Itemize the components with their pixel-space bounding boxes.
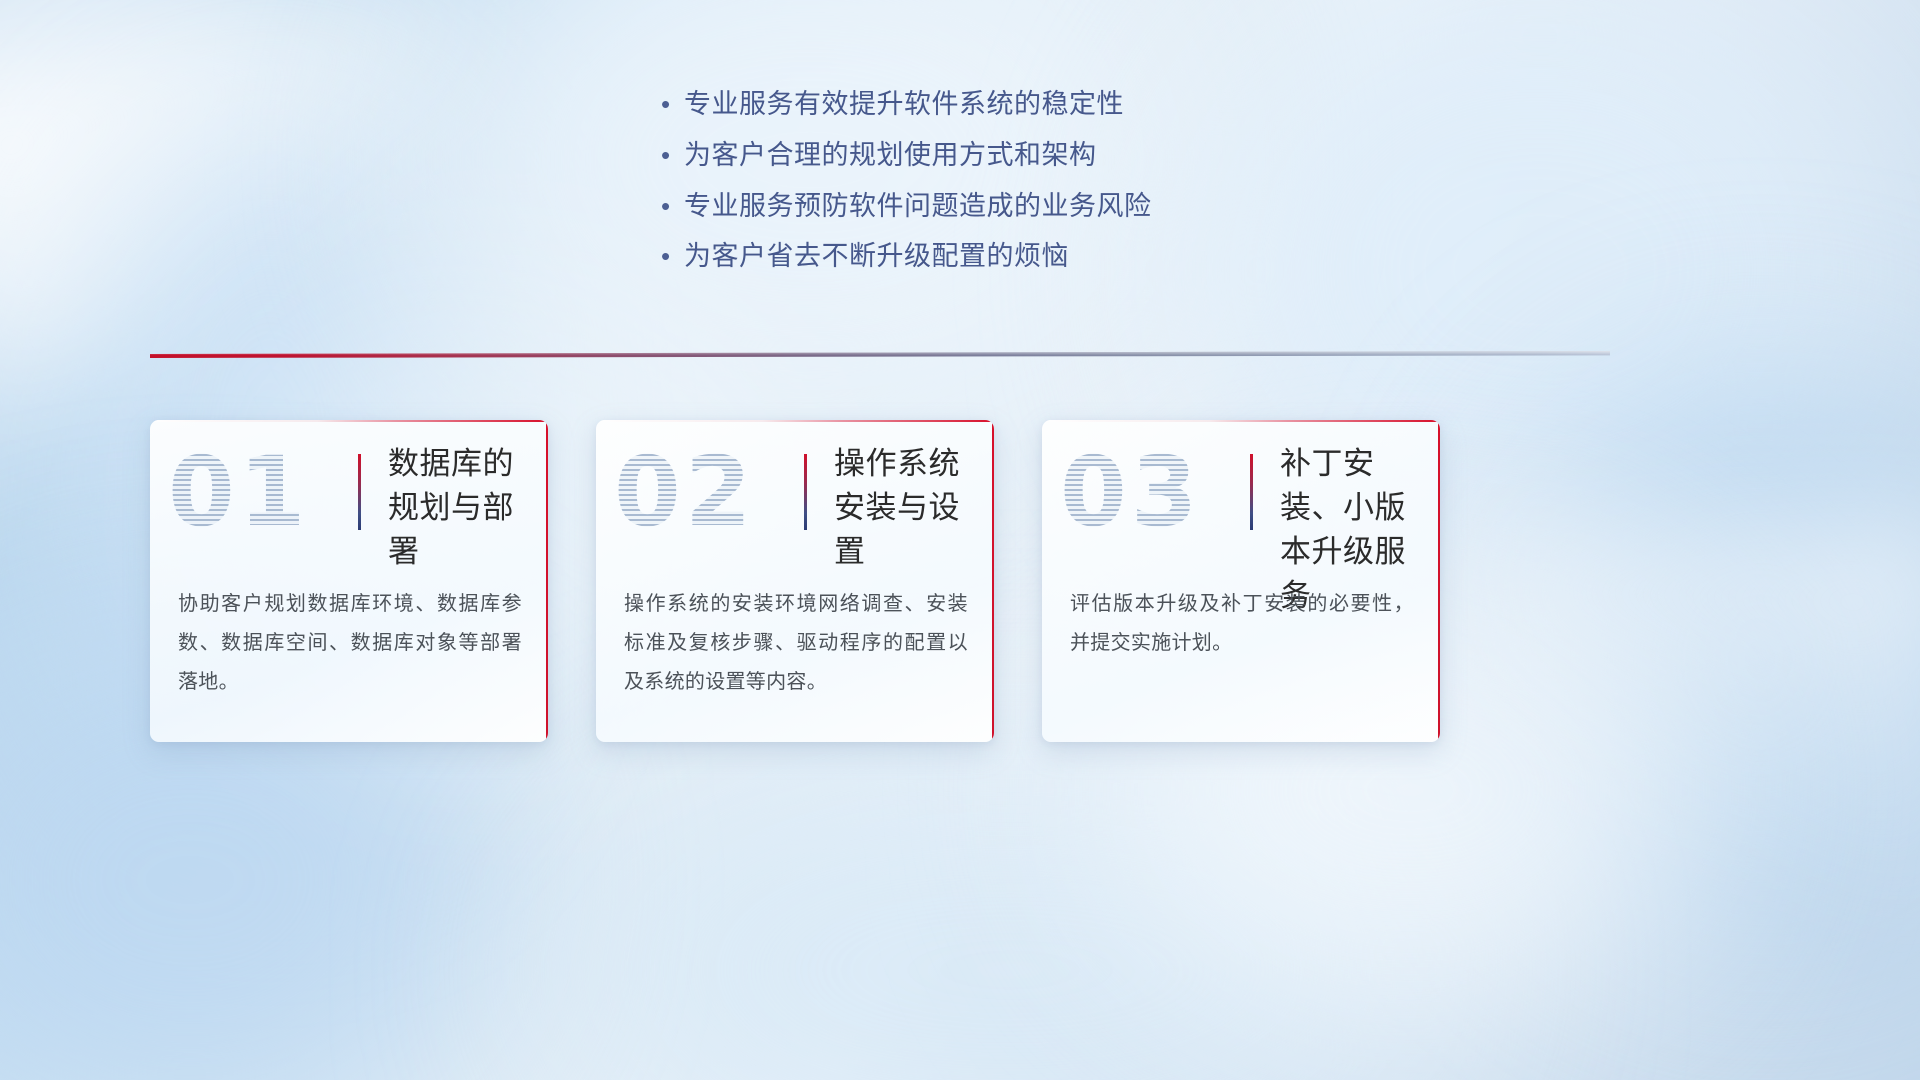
light-streak <box>1480 520 1920 940</box>
list-item: • 为客户省去不断升级配置的烦恼 <box>650 240 1270 274</box>
card-number: 02 <box>614 444 756 540</box>
list-item: • 专业服务预防软件问题造成的业务风险 <box>650 190 1270 224</box>
vertical-accent-bar <box>804 454 807 530</box>
bullet-text: 为客户省去不断升级配置的烦恼 <box>684 240 1069 274</box>
card-header: 02 02 操作系统安装与设置 <box>596 420 994 570</box>
service-card-group: 01 01 数据库的规划与部署 协助客户规划数据库环境、数据库参数、数据库空间、… <box>150 420 1440 742</box>
service-card[interactable]: 01 01 数据库的规划与部署 协助客户规划数据库环境、数据库参数、数据库空间、… <box>150 420 548 742</box>
benefits-bullet-list: • 专业服务有效提升软件系统的稳定性 • 为客户合理的规划使用方式和架构 • 专… <box>0 88 1920 274</box>
vertical-accent-bar <box>358 454 361 530</box>
vertical-accent-bar <box>1250 454 1253 530</box>
card-number: 01 <box>168 444 310 540</box>
list-item: • 为客户合理的规划使用方式和架构 <box>650 139 1270 173</box>
light-blob <box>1500 380 1920 940</box>
card-body-text: 操作系统的安装环境网络调查、安装标准及复核步骤、驱动程序的配置以及系统的设置等内… <box>624 585 968 702</box>
card-body-text: 协助客户规划数据库环境、数据库参数、数据库空间、数据库对象等部署落地。 <box>178 585 522 702</box>
service-card[interactable]: 03 03 补丁安装、小版本升级服务 评估版本升级及补丁安装的必要性，并提交实施… <box>1042 420 1440 742</box>
service-card[interactable]: 02 02 操作系统安装与设置 操作系统的安装环境网络调查、安装标准及复核步骤、… <box>596 420 994 742</box>
bullet-text: 为客户合理的规划使用方式和架构 <box>684 139 1097 173</box>
card-number: 03 <box>1060 444 1202 540</box>
card-header: 01 01 数据库的规划与部署 <box>150 420 548 570</box>
divider-highlight <box>150 351 1610 358</box>
card-header: 03 03 补丁安装、小版本升级服务 <box>1042 420 1440 570</box>
bullet-dot-icon: • <box>650 91 684 117</box>
bullet-dot-icon: • <box>650 193 684 219</box>
bullet-dot-icon: • <box>650 243 684 269</box>
light-blob <box>560 760 1460 1080</box>
card-body-text: 评估版本升级及补丁安装的必要性，并提交实施计划。 <box>1070 585 1414 663</box>
list-item: • 专业服务有效提升软件系统的稳定性 <box>650 88 1270 122</box>
bullet-text: 专业服务有效提升软件系统的稳定性 <box>684 88 1124 122</box>
card-title: 操作系统安装与设置 <box>834 442 978 574</box>
bullet-dot-icon: • <box>650 142 684 168</box>
bullet-text: 专业服务预防软件问题造成的业务风险 <box>684 190 1152 224</box>
card-title: 数据库的规划与部署 <box>388 442 532 574</box>
section-divider <box>150 345 1610 369</box>
